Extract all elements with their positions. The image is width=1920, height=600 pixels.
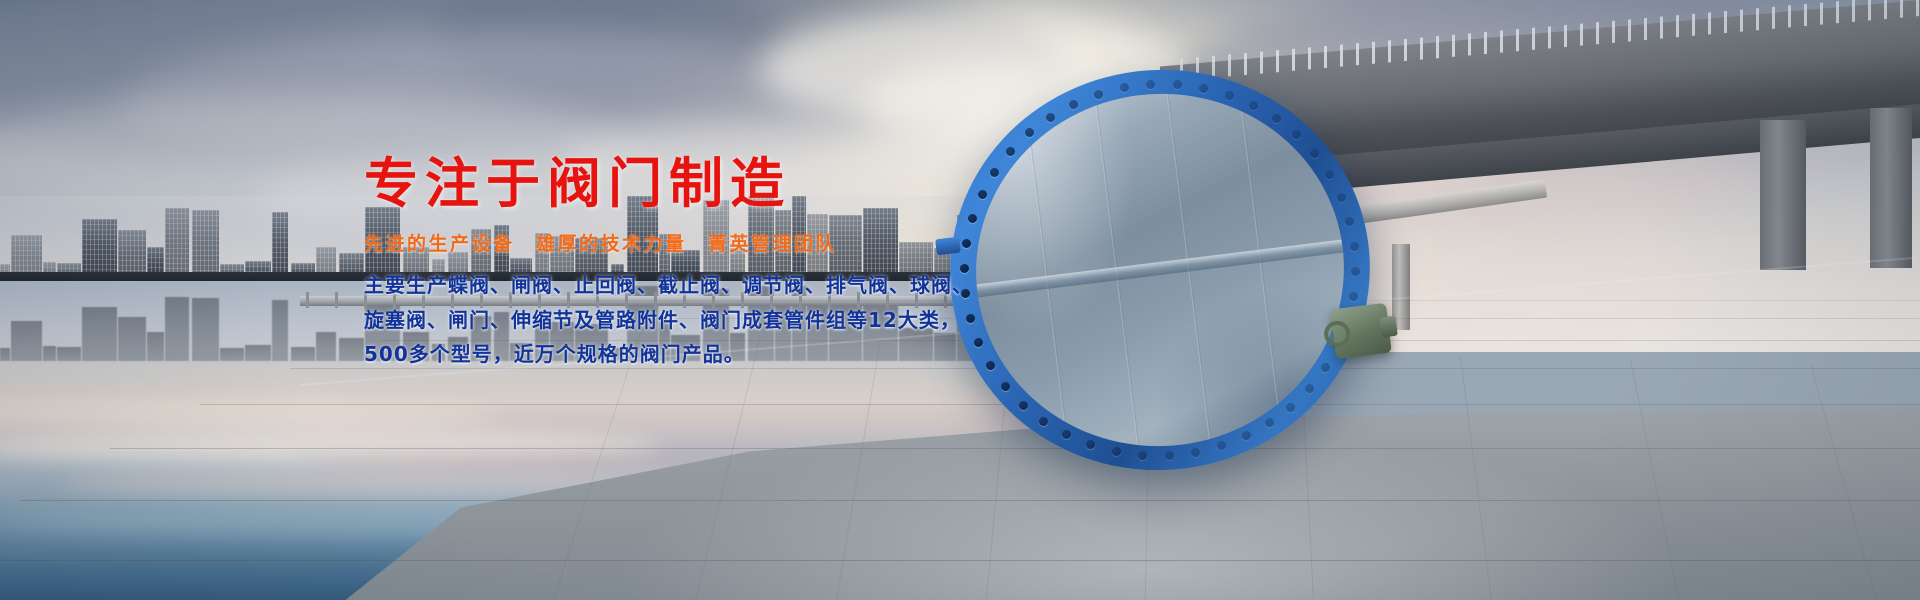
banner-body-line-2: 旋塞阀、闸门、伸缩节及管路附件、阀门成套管件组等12大类， — [364, 303, 1064, 337]
banner-copy: 专注于阀门制造 先进的生产设备 雄厚的技术力量 菁英管理团队 主要生产蝶阀、闸阀… — [364, 152, 1064, 371]
banner-body-line-1: 主要生产蝶阀、闸阀、止回阀、截止阀、调节阀、排气阀、球阀、 — [364, 268, 1064, 302]
gearbox-cap — [1380, 316, 1398, 338]
banner-headline: 专注于阀门制造 — [364, 152, 1064, 216]
valve-gearbox-actuator — [1330, 303, 1392, 359]
promo-banner: 专注于阀门制造 先进的生产设备 雄厚的技术力量 菁英管理团队 主要生产蝶阀、闸阀… — [0, 0, 1920, 600]
banner-subline: 先进的生产设备 雄厚的技术力量 菁英管理团队 — [364, 230, 1064, 259]
banner-body: 主要生产蝶阀、闸阀、止回阀、截止阀、调节阀、排气阀、球阀、 旋塞阀、闸门、伸缩节… — [364, 268, 1064, 371]
overpass-pier — [1760, 120, 1806, 270]
banner-body-line-3: 500多个型号，近万个规格的阀门产品。 — [364, 337, 1064, 371]
overpass-pier — [1870, 108, 1912, 268]
